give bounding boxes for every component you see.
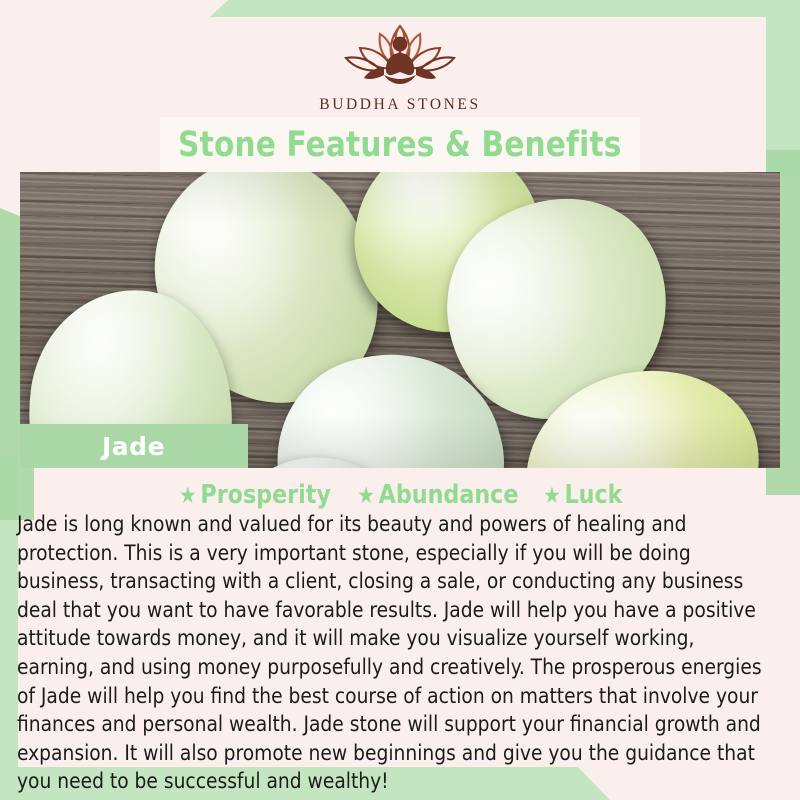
infographic-page: BUDDHA STONES Stone Features & Benefits … xyxy=(0,0,800,800)
benefit-item-abundance: ★Abundance xyxy=(358,480,519,510)
benefit-item-luck: ★Luck xyxy=(544,480,623,510)
star-icon: ★ xyxy=(179,483,197,509)
stone-name-bar: Jade xyxy=(20,424,248,468)
benefit-label: Prosperity xyxy=(200,480,330,510)
benefit-item-prosperity: ★Prosperity xyxy=(179,480,331,510)
brand-logo: BUDDHA STONES xyxy=(0,18,800,114)
star-icon: ★ xyxy=(544,483,562,509)
benefit-label: Abundance xyxy=(379,480,519,510)
stone-name-label: Jade xyxy=(102,432,165,461)
title-banner: Stone Features & Benefits xyxy=(160,117,640,172)
brand-name: BUDDHA STONES xyxy=(0,96,800,114)
decor-band-top xyxy=(210,0,800,17)
benefit-label: Luck xyxy=(565,480,623,510)
page-title: Stone Features & Benefits xyxy=(178,125,621,165)
benefits-row: ★Prosperity ★Abundance ★Luck xyxy=(0,480,800,510)
star-icon: ★ xyxy=(358,483,376,509)
lotus-meditation-icon xyxy=(324,18,476,90)
description-text: Jade is long known and valued for its be… xyxy=(17,511,770,797)
